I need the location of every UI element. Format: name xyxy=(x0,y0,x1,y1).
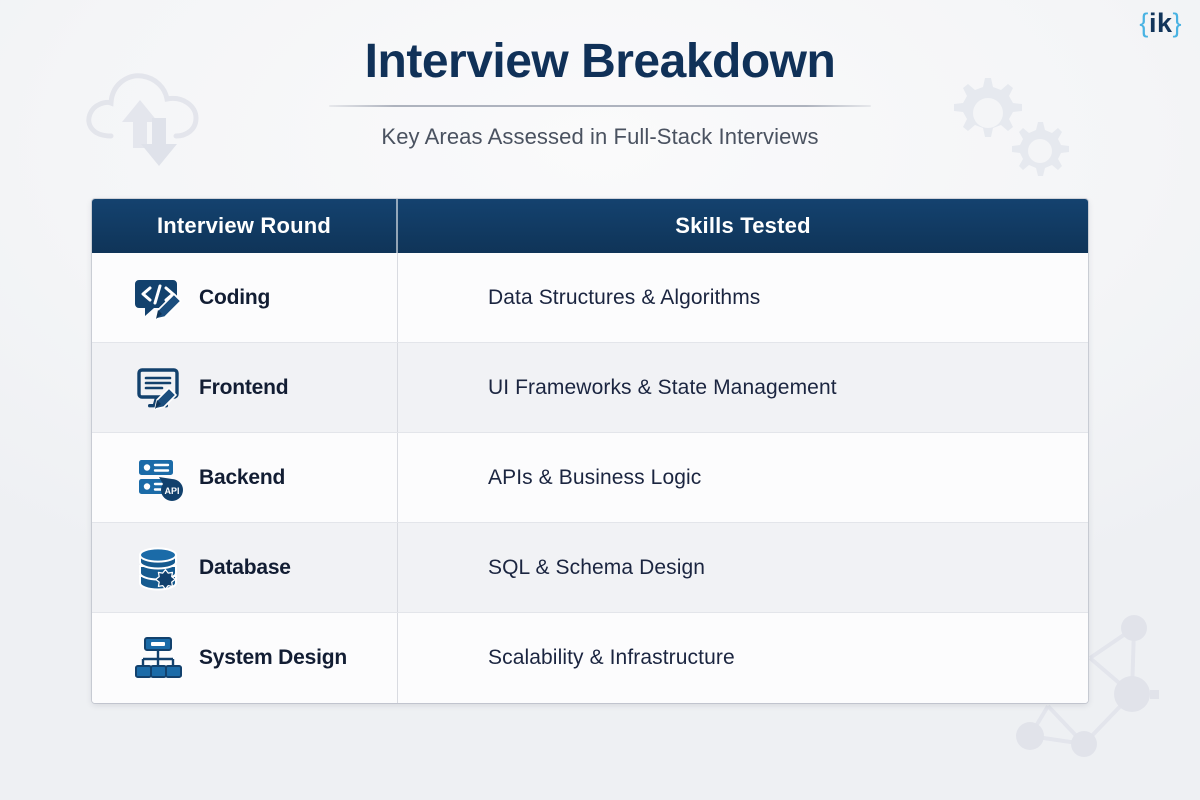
round-cell: API Backend xyxy=(92,433,398,522)
skills-cell: UI Frameworks & State Management xyxy=(398,343,1088,432)
round-label: Database xyxy=(199,556,291,580)
round-cell: System Design xyxy=(92,613,398,703)
skills-cell: APIs & Business Logic xyxy=(398,433,1088,522)
round-cell: Database xyxy=(92,523,398,612)
brand-logo: {ik} xyxy=(1139,10,1182,37)
svg-text:API: API xyxy=(164,486,179,496)
table-row[interactable]: Frontend UI Frameworks & State Managemen… xyxy=(92,343,1088,433)
skills-label: Scalability & Infrastructure xyxy=(488,646,735,670)
skills-cell: Data Structures & Algorithms xyxy=(398,253,1088,342)
server-api-icon: API xyxy=(134,452,186,504)
skills-label: SQL & Schema Design xyxy=(488,556,705,580)
interview-breakdown-table: Interview Round Skills Tested Coding xyxy=(92,199,1088,703)
round-cell: Frontend xyxy=(92,343,398,432)
page-subtitle: Key Areas Assessed in Full-Stack Intervi… xyxy=(0,124,1200,150)
skills-label: UI Frameworks & State Management xyxy=(488,376,837,400)
skills-label: APIs & Business Logic xyxy=(488,466,701,490)
table-row[interactable]: Database SQL & Schema Design xyxy=(92,523,1088,613)
table-row[interactable]: API Backend APIs & Business Logic xyxy=(92,433,1088,523)
skills-cell: SQL & Schema Design xyxy=(398,523,1088,612)
table-header-row: Interview Round Skills Tested xyxy=(92,199,1088,253)
skills-label: Data Structures & Algorithms xyxy=(488,286,760,310)
column-header-interview-round: Interview Round xyxy=(92,199,398,253)
monitor-pencil-icon xyxy=(134,362,186,414)
round-label: Frontend xyxy=(199,376,288,400)
round-cell: Coding xyxy=(92,253,398,342)
logo-left-brace: { xyxy=(1139,8,1149,38)
round-label: Coding xyxy=(199,286,270,310)
database-cylinder-icon xyxy=(134,542,186,594)
table-row[interactable]: Coding Data Structures & Algorithms xyxy=(92,253,1088,343)
table-row[interactable]: System Design Scalability & Infrastructu… xyxy=(92,613,1088,703)
column-header-skills-tested: Skills Tested xyxy=(398,199,1088,253)
logo-text: ik xyxy=(1149,8,1173,38)
hierarchy-tree-icon xyxy=(134,632,186,684)
code-brackets-pencil-icon xyxy=(134,272,186,324)
title-divider xyxy=(329,105,871,107)
skills-cell: Scalability & Infrastructure xyxy=(398,613,1088,703)
round-label: Backend xyxy=(199,466,285,490)
page-title: Interview Breakdown xyxy=(0,36,1200,89)
round-label: System Design xyxy=(199,646,347,670)
logo-right-brace: } xyxy=(1172,8,1182,38)
page-header: Interview Breakdown Key Areas Assessed i… xyxy=(0,36,1200,150)
